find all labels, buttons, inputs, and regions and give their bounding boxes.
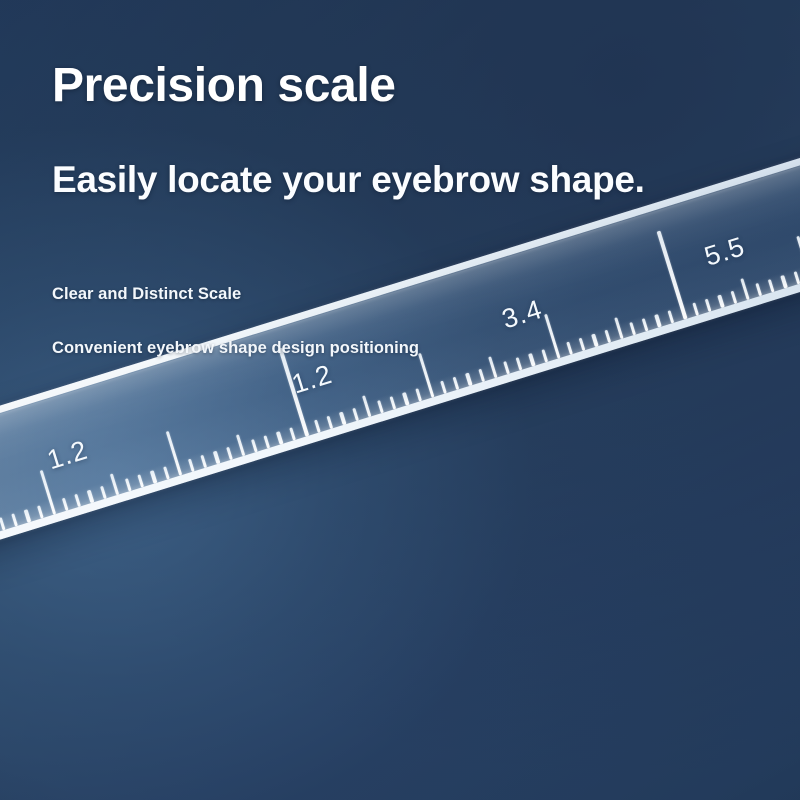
text-block: Precision scale Easily locate your eyebr… [52,60,772,359]
promo-banner: 1.21.23.45.5 Precision scale Easily loca… [0,0,800,800]
feature-item-1: Clear and Distinct Scale [52,285,772,305]
feature-item-2: Convenient eyebrow shape design position… [52,339,772,359]
page-title: Precision scale [52,60,772,113]
page-subtitle: Easily locate your eyebrow shape. [52,159,772,202]
